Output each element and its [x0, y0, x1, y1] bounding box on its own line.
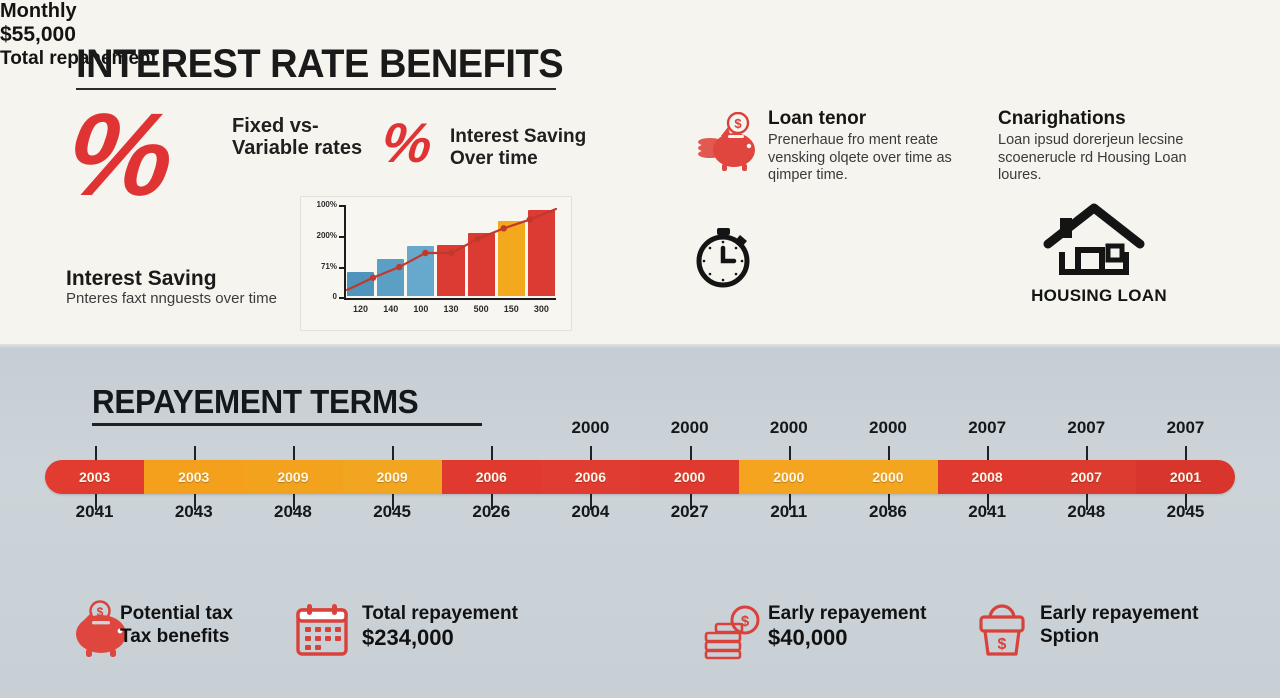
timeline-top-label: [442, 418, 541, 438]
stat-value: $40,000: [768, 625, 983, 652]
timeline-segment[interactable]: 2006: [541, 460, 640, 494]
interest-saving-block: Interest Saving Pnteres faxt nnguests ov…: [66, 268, 316, 308]
label-interest-saving-over-time: Interest Saving Over time: [450, 126, 630, 170]
timeline-top-label: [243, 418, 342, 438]
timeline-segment[interactable]: 2003: [45, 460, 144, 494]
stat-early-repayment-option: Early repayement Sption: [1040, 602, 1240, 648]
chart-y-tick-label: 100%: [303, 200, 337, 209]
timeline-top-label: 2000: [541, 418, 640, 438]
chart-data-point: [527, 216, 533, 222]
timeline-top-label: 2000: [838, 418, 937, 438]
label-fixed-vs-variable: Fixed vs-Variable rates: [232, 115, 372, 160]
timeline-segment[interactable]: 2009: [243, 460, 342, 494]
chart-x-tick-label: 100: [407, 304, 434, 314]
stat-label: Early repayement: [768, 602, 983, 625]
timeline-top-label: [144, 418, 243, 438]
stat-total-repayment: Total repayement $234,000: [362, 602, 582, 652]
timeline-top-label: 2000: [640, 418, 739, 438]
chart-data-point: [422, 250, 428, 256]
chart-y-tick-label: 200%: [303, 231, 337, 240]
timeline-bottom-label: 2041: [938, 502, 1037, 522]
timeline-bottom-label: 2045: [1136, 502, 1235, 522]
interest-saving-sub: Pnteres faxt nnguests over time: [66, 291, 316, 308]
timeline-bottom-label: 2048: [243, 502, 342, 522]
stat-value: Sption: [1040, 625, 1240, 648]
timeline-top-label: 2007: [1037, 418, 1136, 438]
timeline-top-label: [45, 418, 144, 438]
svg-text:$: $: [734, 116, 742, 131]
interest-saving-heading: Interest Saving: [66, 268, 316, 290]
timeline-bottom-labels: 2041204320482045202620042027201120862041…: [45, 502, 1235, 522]
timeline-segment[interactable]: 2001: [1136, 460, 1235, 494]
housing-loan-label: HOUSING LOAN: [1019, 286, 1179, 306]
timeline-bar[interactable]: 2003200320092009200620062000200020002008…: [45, 460, 1235, 494]
stat-label: Early repayement: [1040, 602, 1240, 625]
repayment-terms-title: REPAYEMENT TERMS: [92, 383, 418, 421]
timeline-bottom-label: 2027: [640, 502, 739, 522]
timeline-segment[interactable]: 2007: [1037, 460, 1136, 494]
top-panel: INTEREST RATE BENEFITS % Fixed vs-Variab…: [0, 0, 1280, 348]
timeline-bottom-label: 2086: [838, 502, 937, 522]
chart-data-point: [474, 236, 480, 242]
chart-x-tick-label: 300: [528, 304, 555, 314]
timeline-bottom-label: 2026: [442, 502, 541, 522]
timeline-bottom-label: 2048: [1037, 502, 1136, 522]
chart-x-tick-label: 500: [468, 304, 495, 314]
timeline-segment[interactable]: 2000: [640, 460, 739, 494]
timeline-segment[interactable]: 2008: [938, 460, 1037, 494]
timeline-bottom-label: 2004: [541, 502, 640, 522]
chart-x-axis-labels: 120140100130500150300: [347, 304, 555, 314]
percent-symbol-large: %: [63, 105, 178, 205]
charges-block: Cnarighations Loan ipsud dorerjeun lecsi…: [998, 108, 1234, 185]
infographic-page: INTEREST RATE BENEFITS % Fixed vs-Variab…: [0, 0, 1280, 698]
timeline-bottom-label: 2011: [739, 502, 838, 522]
chart-x-tick-label: 130: [437, 304, 464, 314]
house-icon: [1040, 200, 1148, 287]
timeline-segment[interactable]: 2009: [343, 460, 442, 494]
stat-potential-tax: Potential tax Tax benefits: [120, 602, 310, 648]
chart-trend-line: [344, 201, 559, 301]
svg-text:$: $: [998, 636, 1007, 653]
stopwatch-icon: [690, 222, 758, 295]
stat-early-repayment-amount: Early repayement $40,000: [768, 602, 983, 652]
stat-value: $234,000: [362, 625, 582, 652]
timeline-segment[interactable]: 2000: [838, 460, 937, 494]
interest-saving-chart: 100%200%71%0 120140100130500150300: [300, 196, 572, 331]
chart-x-tick-label: 150: [498, 304, 525, 314]
timeline-segment[interactable]: 2003: [144, 460, 243, 494]
timeline-top-labels: 2000200020002000200720072007: [45, 418, 1235, 438]
timeline-top-label: [343, 418, 442, 438]
charges-heading: Cnarighations: [998, 108, 1234, 130]
chart-x-tick-label: 140: [377, 304, 404, 314]
timeline-segment[interactable]: 2000: [739, 460, 838, 494]
chart-data-point: [448, 250, 454, 256]
timeline-bottom-label: 2041: [45, 502, 144, 522]
timeline-top-label: 2007: [938, 418, 1037, 438]
chart-y-tick-label: 71%: [303, 262, 337, 271]
loan-tenor-heading: Loan tenor: [768, 108, 992, 130]
timeline-top-label: 2007: [1136, 418, 1235, 438]
piggy-bank-icon: $: [694, 112, 760, 179]
stat-label: Potential tax: [120, 602, 310, 625]
monthly-label: Monthly: [0, 0, 220, 23]
timeline-segment[interactable]: 2006: [442, 460, 541, 494]
charges-sub: Loan ipsud dorerjeun lecsine scoenerucle…: [998, 132, 1234, 184]
stat-value: Tax benefits: [120, 625, 310, 648]
chart-data-point: [396, 264, 402, 270]
chart-data-point: [501, 225, 507, 231]
chart-x-tick-label: 120: [347, 304, 374, 314]
page-title: INTEREST RATE BENEFITS: [76, 42, 563, 87]
chart-data-point: [370, 274, 376, 280]
chart-y-tick-label: 0: [303, 292, 337, 301]
loan-tenor-block: Loan tenor Prenerhaue fro ment reate ven…: [768, 108, 992, 185]
timeline-bottom-label: 2045: [343, 502, 442, 522]
stat-label: Total repayement: [362, 602, 582, 625]
repayment-timeline: 2000200020002000200720072007 20032003200…: [45, 418, 1235, 546]
loan-tenor-sub: Prenerhaue fro ment reate vensking olqet…: [768, 132, 992, 184]
timeline-top-label: 2000: [739, 418, 838, 438]
coins-stack-icon: $: [702, 604, 764, 665]
timeline-bottom-label: 2043: [144, 502, 243, 522]
percent-symbol-small: %: [379, 118, 434, 168]
